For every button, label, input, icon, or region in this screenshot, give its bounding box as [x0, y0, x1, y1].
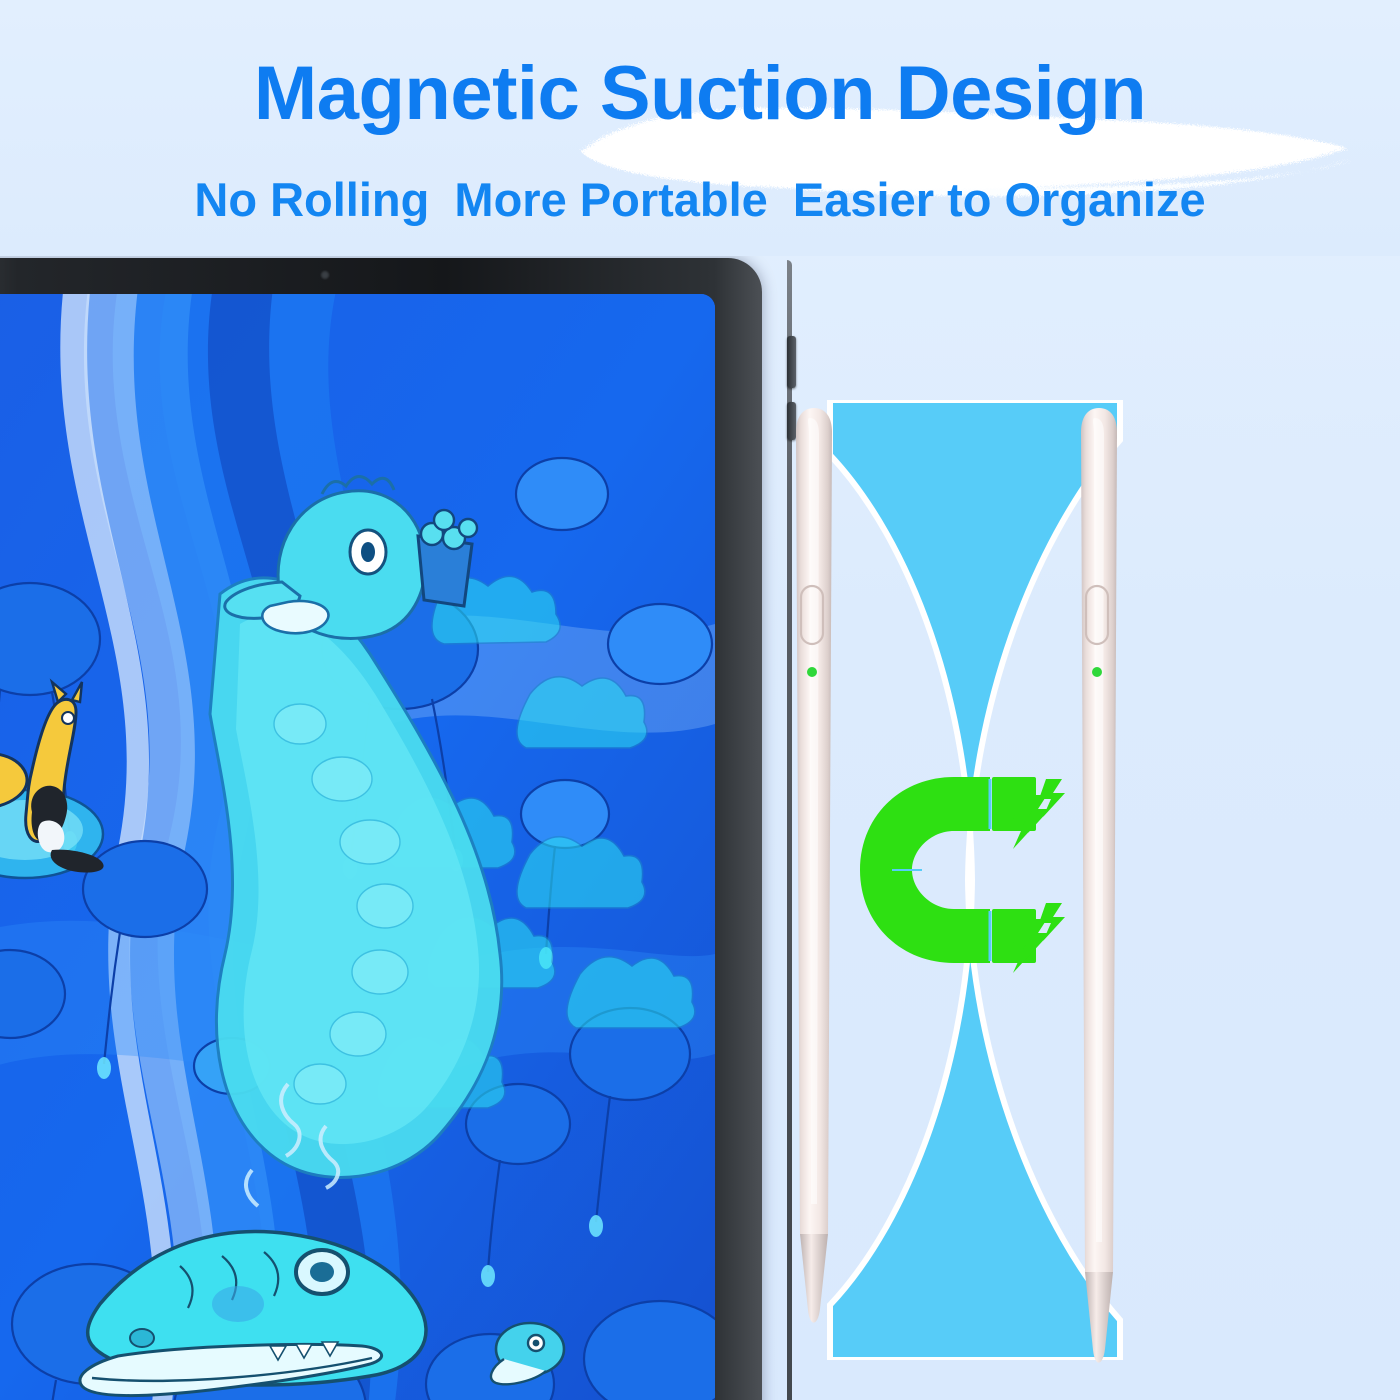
stylus-led-indicator	[807, 667, 817, 677]
page-subtitle: No Rolling More Portable Easier to Organ…	[0, 176, 1400, 223]
volume-up-button[interactable]	[787, 336, 796, 388]
stylus-tip	[1085, 1272, 1113, 1363]
stylus-led-indicator	[1092, 667, 1102, 677]
subtitle-part-3: Easier to Organize	[787, 173, 1212, 226]
horseshoe-magnet-icon	[850, 765, 1070, 975]
wallpaper-illustration	[0, 294, 715, 1400]
subtitle-part-1: No Rolling	[188, 173, 435, 226]
header-banner: Magnetic Suction Design No Rolling More …	[0, 0, 1400, 256]
front-camera-dot	[320, 270, 330, 280]
stylus-tip	[800, 1234, 828, 1323]
stylus-right[interactable]	[1063, 404, 1135, 1379]
tablet-screen[interactable]	[0, 294, 715, 1400]
stylus-left[interactable]	[780, 404, 850, 1339]
marketing-banner: Magnetic Suction Design No Rolling More …	[0, 0, 1400, 1400]
subtitle-part-2: More Portable	[448, 173, 773, 226]
tablet-device	[0, 258, 792, 1400]
page-title: Magnetic Suction Design	[0, 56, 1400, 132]
